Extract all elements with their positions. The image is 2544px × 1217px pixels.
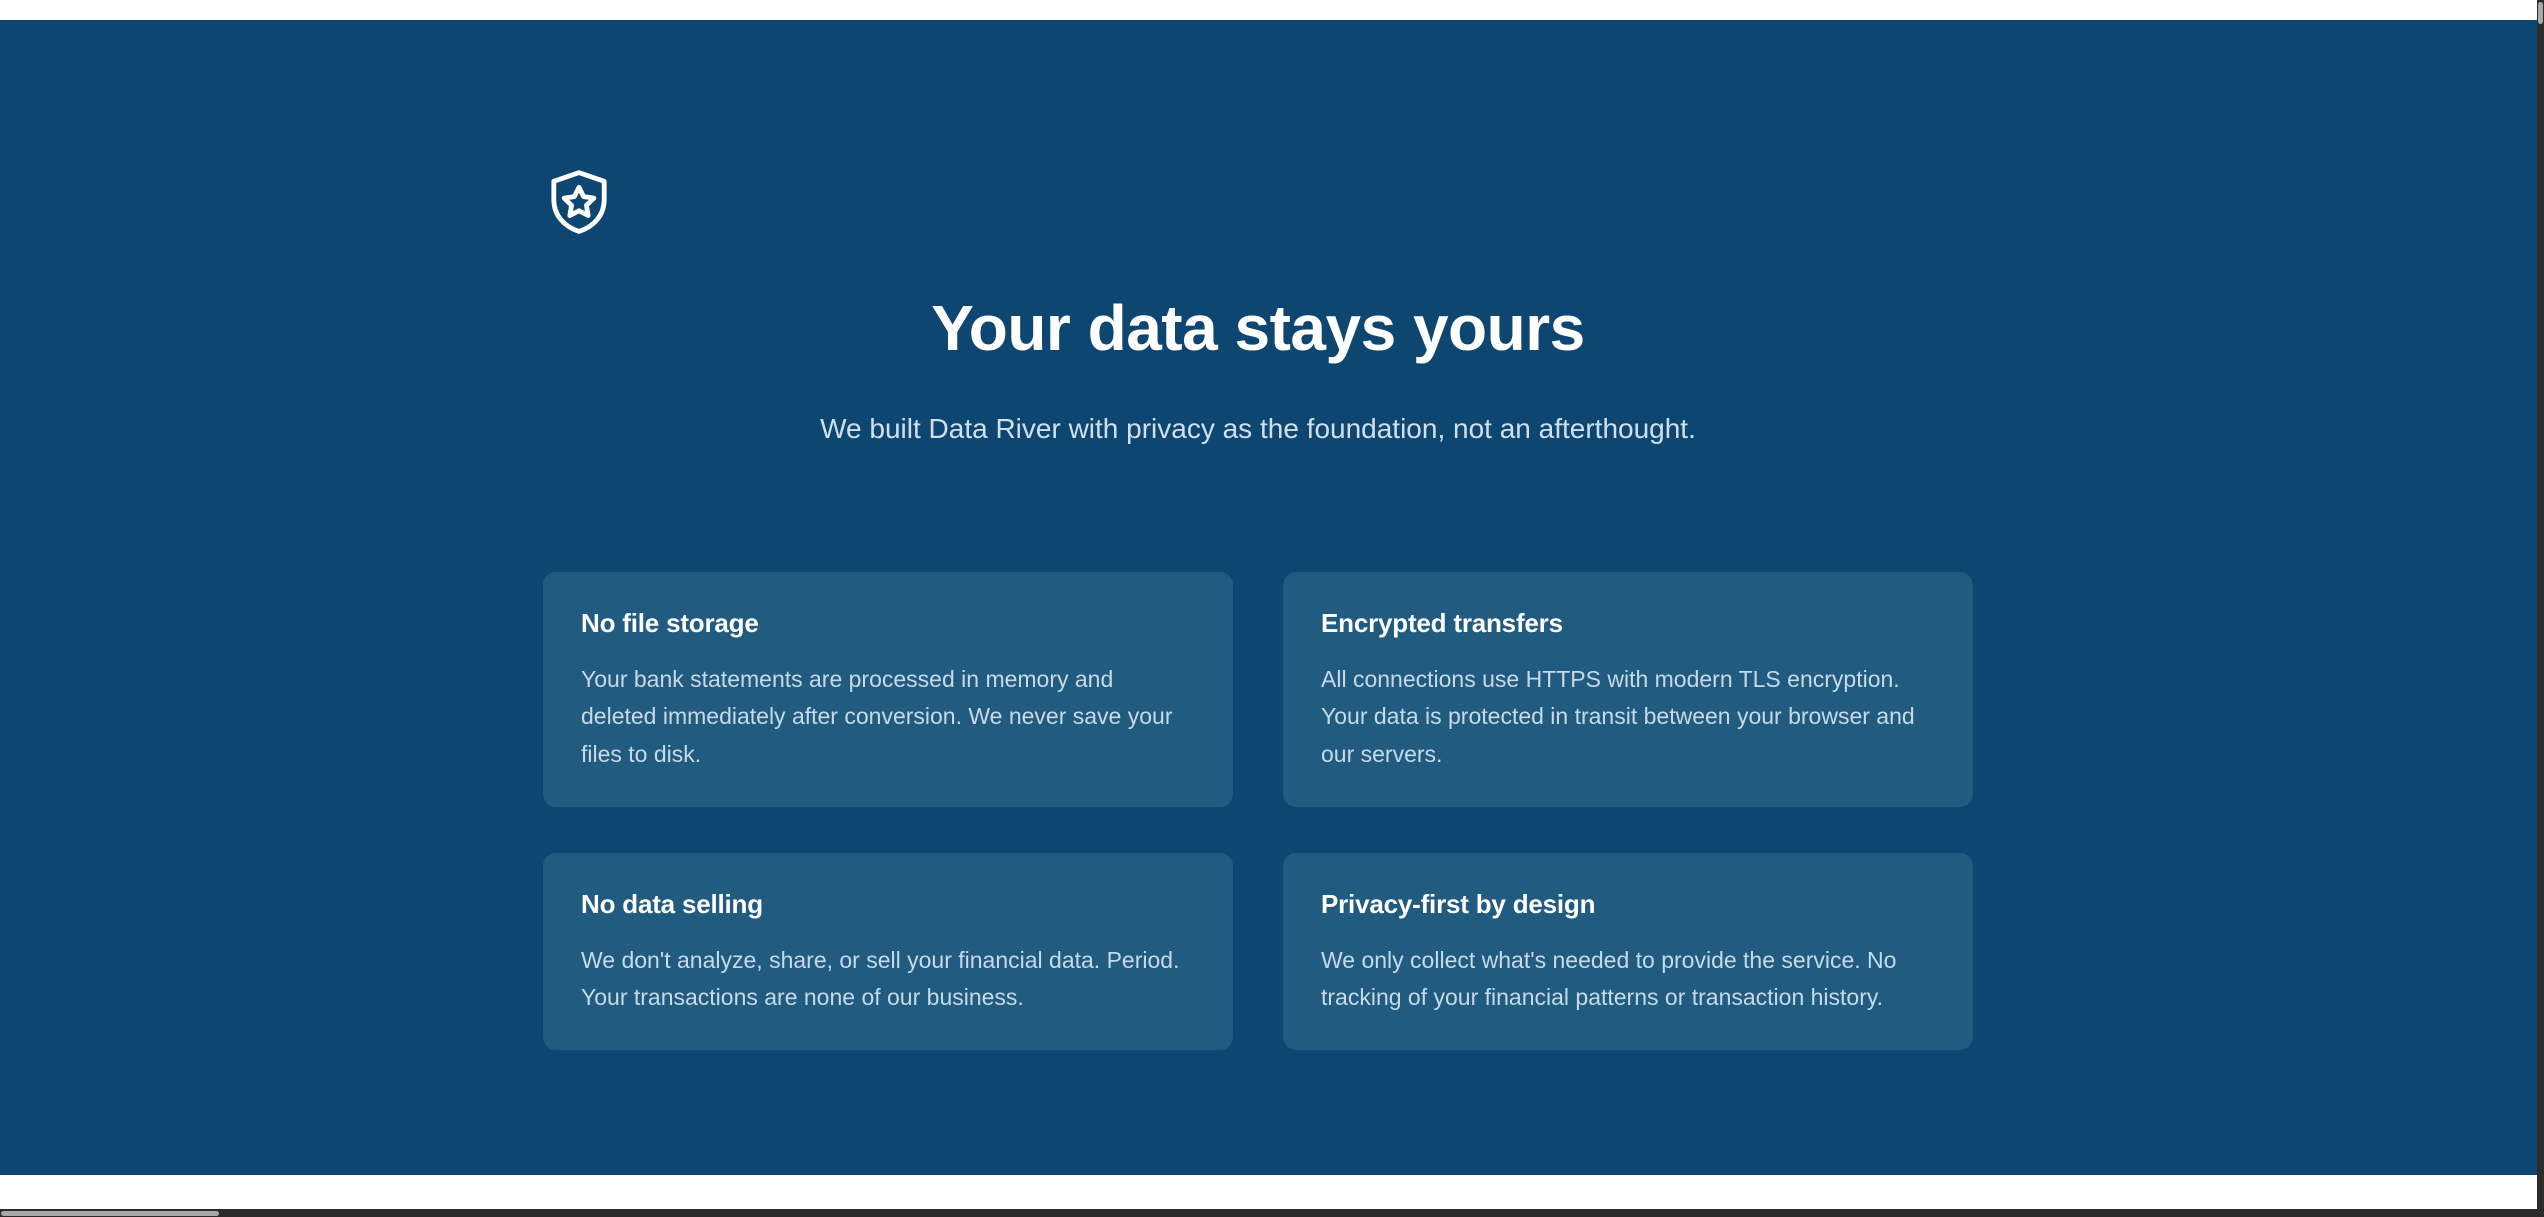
vertical-scrollbar-thumb[interactable] (2538, 2, 2543, 24)
horizontal-scrollbar-thumb[interactable] (1, 1211, 219, 1216)
page-title: Your data stays yours (543, 292, 1973, 366)
privacy-section-content: Your data stays yours We built Data Rive… (543, 20, 1973, 1175)
privacy-section: Your data stays yours We built Data Rive… (0, 20, 2537, 1175)
privacy-card-no-file-storage: No file storage Your bank statements are… (543, 572, 1233, 807)
horizontal-scrollbar[interactable] (0, 1209, 2544, 1217)
privacy-card-grid: No file storage Your bank statements are… (543, 572, 1973, 1050)
scrollbar-corner (2536, 1209, 2544, 1217)
browser-viewport: Your data stays yours We built Data Rive… (0, 0, 2537, 1209)
screenshot-root: Your data stays yours We built Data Rive… (0, 0, 2544, 1217)
shield-star-icon (543, 166, 615, 238)
page-background-strip (0, 1175, 2537, 1209)
card-title: No file storage (581, 608, 1195, 639)
card-title: Privacy-first by design (1321, 889, 1935, 920)
card-body: We don't analyze, share, or sell your fi… (581, 942, 1195, 1017)
card-title: No data selling (581, 889, 1195, 920)
card-body: All connections use HTTPS with modern TL… (1321, 661, 1935, 773)
privacy-card-no-data-selling: No data selling We don't analyze, share,… (543, 853, 1233, 1051)
privacy-card-privacy-first-by-design: Privacy-first by design We only collect … (1283, 853, 1973, 1051)
card-body: Your bank statements are processed in me… (581, 661, 1195, 773)
section-subtitle: We built Data River with privacy as the … (818, 408, 1698, 451)
privacy-card-encrypted-transfers: Encrypted transfers All connections use … (1283, 572, 1973, 807)
card-title: Encrypted transfers (1321, 608, 1935, 639)
card-body: We only collect what's needed to provide… (1321, 942, 1935, 1017)
vertical-scrollbar[interactable] (2537, 0, 2544, 1209)
